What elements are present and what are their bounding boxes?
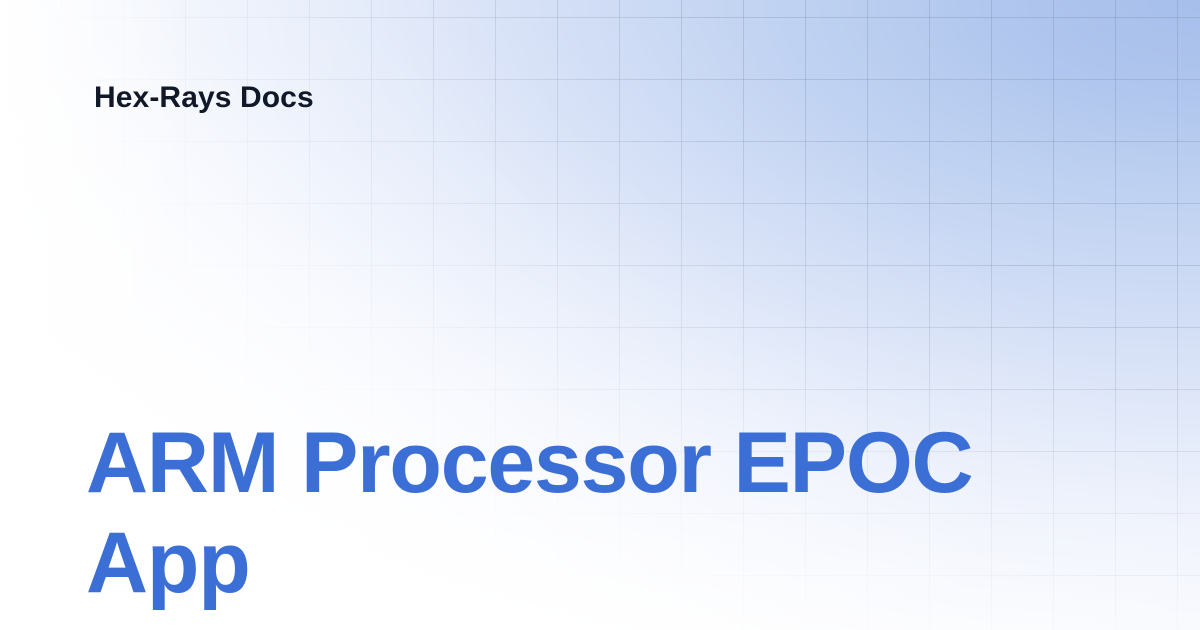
card-content: Hex-Rays Docs ARM Processor EPOC App bbox=[0, 0, 1200, 630]
page-title: ARM Processor EPOC App bbox=[86, 413, 1096, 613]
site-label: Hex-Rays Docs bbox=[94, 80, 314, 116]
og-banner-card: Hex-Rays Docs ARM Processor EPOC App bbox=[0, 0, 1200, 630]
